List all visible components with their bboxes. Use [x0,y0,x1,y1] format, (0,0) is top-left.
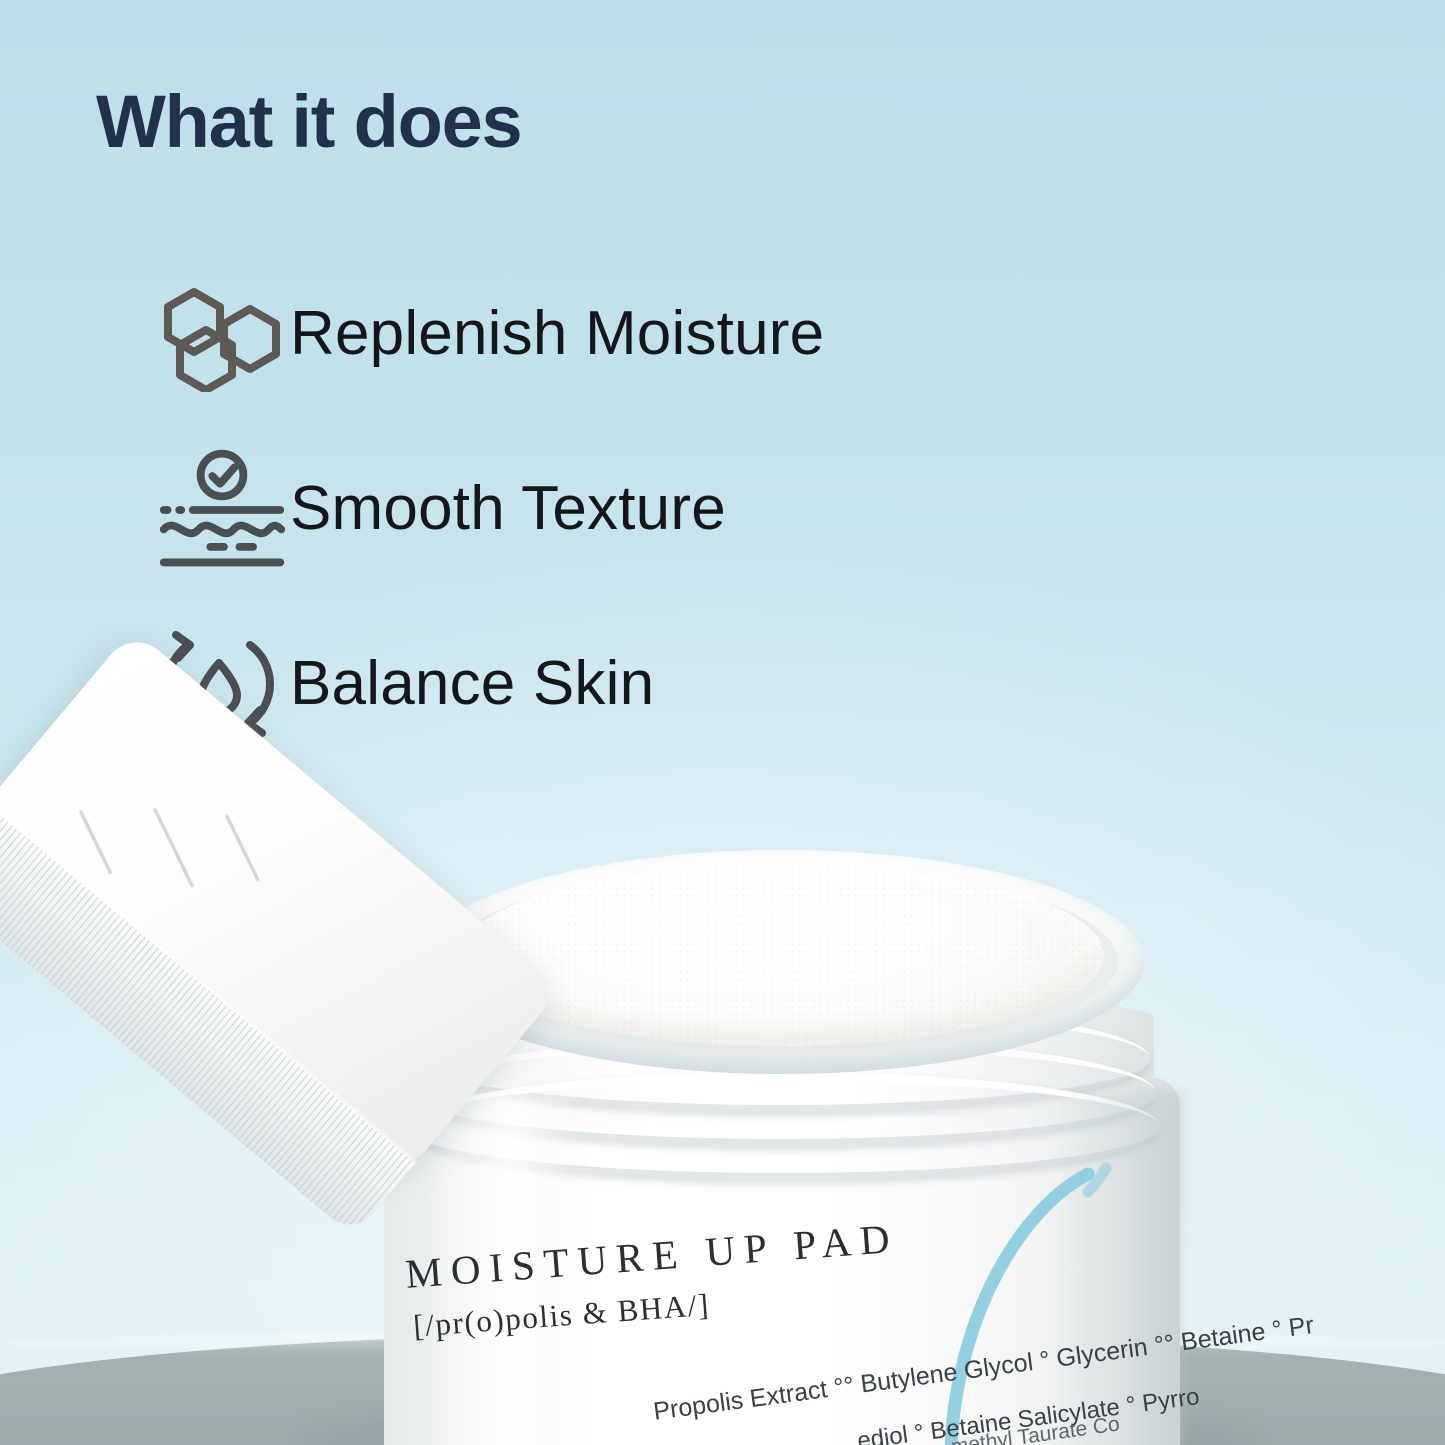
feature-item-replenish-moisture: Replenish Moisture [140,246,1200,421]
cotton-pads-scalloped-edge [460,860,1104,1042]
smooth-skin-layers-check-icon [140,449,290,569]
product-feature-graphic: What it does Replenish Moisture [0,0,1445,1445]
feature-item-smooth-texture: Smooth Texture [140,421,1200,596]
honeycomb-icon [140,274,290,394]
feature-label: Smooth Texture [290,478,726,540]
feature-list: Replenish Moisture [140,246,1200,771]
feature-label: Replenish Moisture [290,303,824,365]
feature-item-balance-skin: Balance Skin [140,596,1200,771]
page-title: What it does [96,84,521,161]
feature-label: Balance Skin [290,653,654,715]
